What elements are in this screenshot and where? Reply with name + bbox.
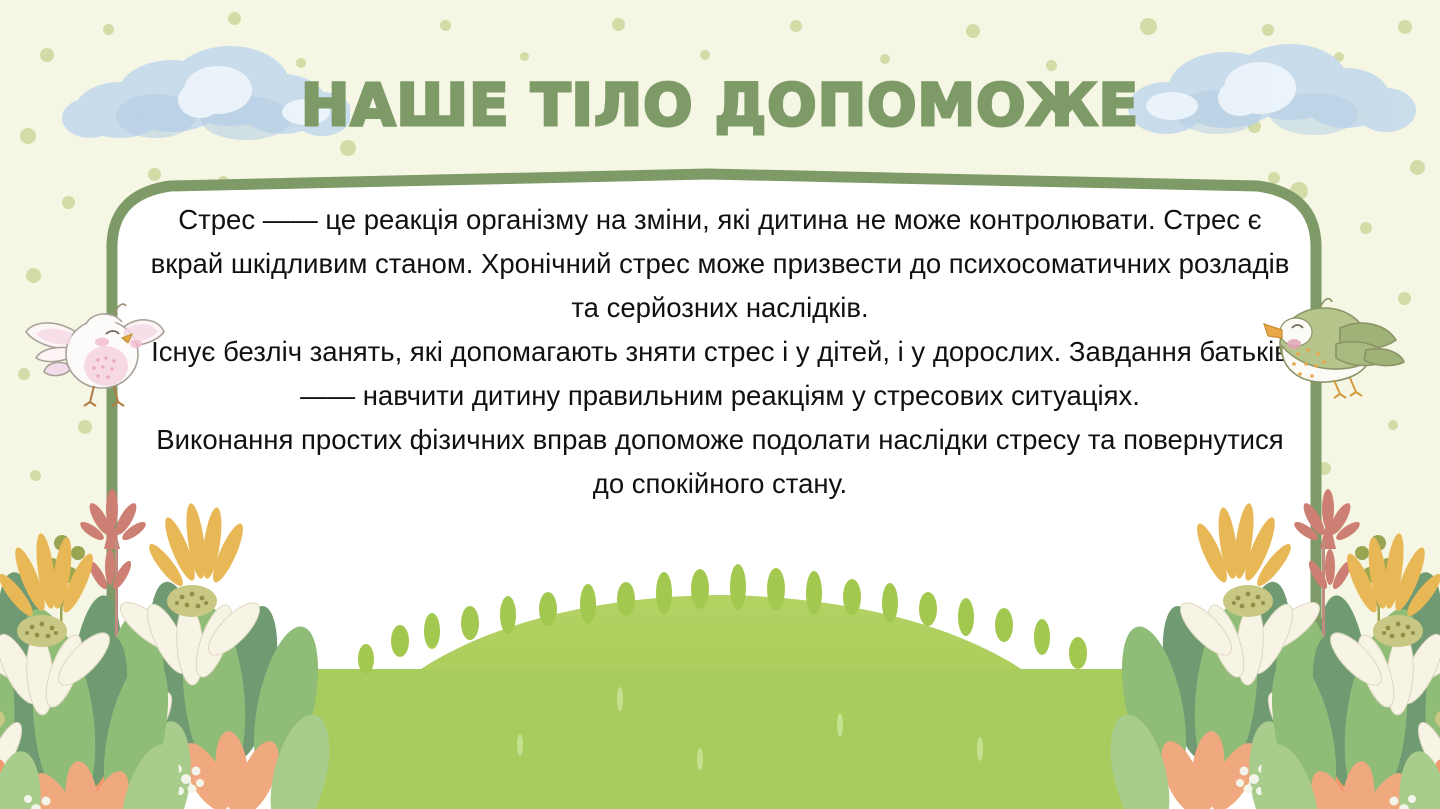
- paragraph-3: Виконання простих фізичних вправ допомож…: [150, 418, 1290, 506]
- page-title: НАШЕ ТІЛО ДОПОМОЖЕ: [0, 76, 1440, 134]
- paragraph-1: Стрес —— це реакція організму на зміни, …: [150, 198, 1290, 330]
- body-text: Стрес —— це реакція організму на зміни, …: [150, 198, 1290, 506]
- paragraph-2: Існує безліч занять, які допомагають зня…: [150, 330, 1290, 418]
- slide-canvas: НАШЕ ТІЛО ДОПОМОЖЕ Стрес —— це реакція о…: [0, 0, 1440, 809]
